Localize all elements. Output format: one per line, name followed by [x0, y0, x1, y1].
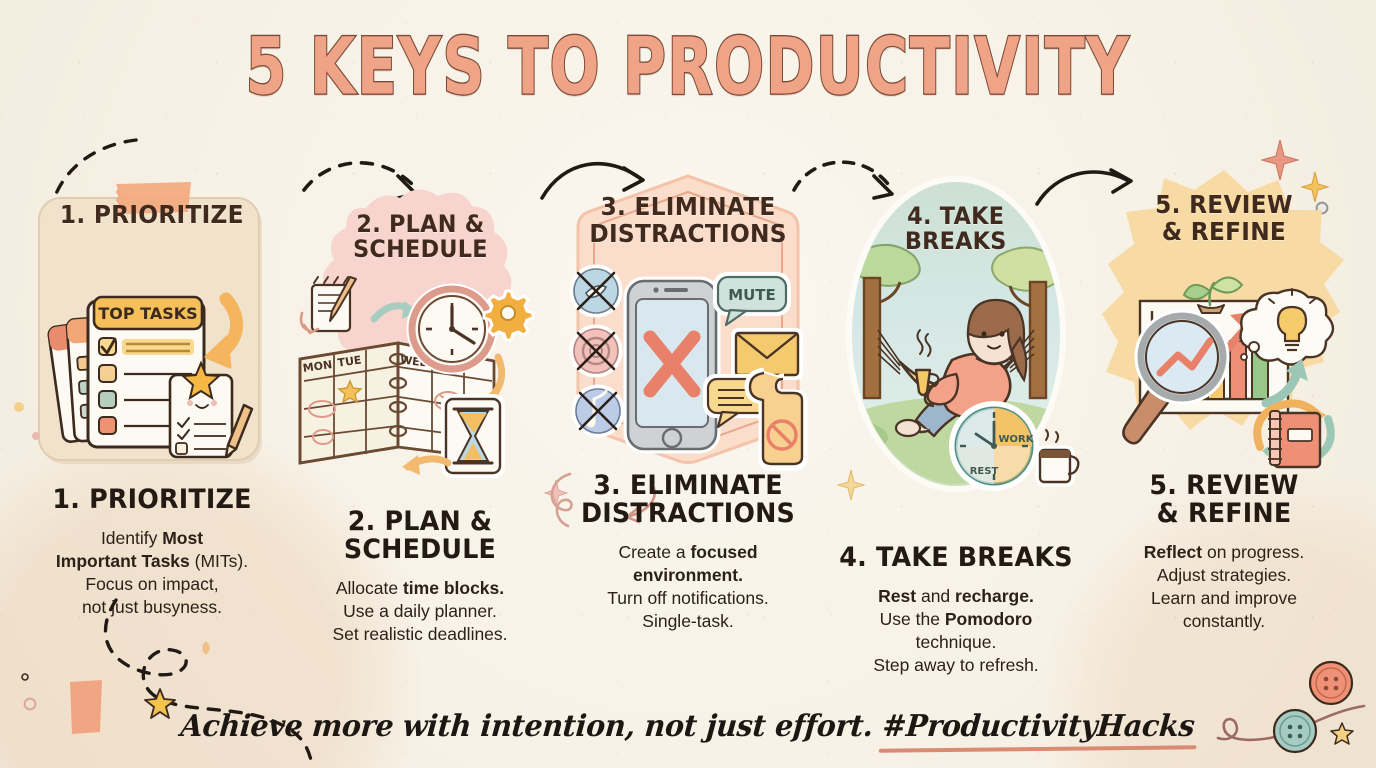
- caption-line: Adjust strategies.: [1093, 564, 1355, 587]
- step-5-caption: 5. REVIEW & REFINE Reflect on progress.A…: [1093, 472, 1355, 634]
- step-card-plan-schedule[interactable]: 2. PLAN & SCHEDULE: [286, 168, 554, 688]
- step-5-caption-heading: 5. REVIEW & REFINE: [1101, 472, 1347, 528]
- caption-line: Learn and improve: [1093, 587, 1355, 610]
- step-3-title: 3. ELIMINATE DISTRACTIONS: [589, 194, 786, 468]
- caption-line: environment.: [557, 564, 819, 587]
- caption-line: technique.: [825, 631, 1087, 654]
- step-4-caption: 4. TAKE BREAKS Rest and recharge.Use the…: [825, 544, 1087, 677]
- caption-line: Identify Most: [21, 527, 283, 550]
- step-5-title: 5. REVIEW & REFINE: [1155, 192, 1293, 466]
- step-2-caption-heading: 2. PLAN & SCHEDULE: [297, 508, 543, 564]
- caption-line: Allocate time blocks.: [289, 577, 551, 600]
- step-5-caption-body: Reflect on progress.Adjust strategies.Le…: [1093, 541, 1355, 633]
- step-card-eliminate-distractions[interactable]: 3. ELIMINATE DISTRACTIONS: [554, 168, 822, 688]
- step-4-caption-heading: 4. TAKE BREAKS: [833, 544, 1079, 572]
- caption-line: Focus on impact,: [21, 573, 283, 596]
- step-card-take-breaks[interactable]: 4. TAKE BREAKS: [822, 168, 1090, 688]
- footer-tagline: Achieve more with intention, not just ef…: [0, 709, 1376, 744]
- step-2-title: 2. PLAN & SCHEDULE: [353, 212, 488, 486]
- step-1-caption-body: Identify MostImportant Tasks (MITs).Focu…: [21, 527, 283, 619]
- step-3-caption: 3. ELIMINATE DISTRACTIONS Create a focus…: [557, 472, 819, 634]
- title-area: 5 KEYS TO PRODUCTIVITY: [0, 36, 1376, 100]
- caption-line: Set realistic deadlines.: [289, 623, 551, 646]
- step-2-caption: 2. PLAN & SCHEDULE Allocate time blocks.…: [289, 508, 551, 646]
- tagline-text: Achieve more with intention, not just ef…: [180, 709, 1197, 744]
- step-3-panel: 3. ELIMINATE DISTRACTIONS: [566, 168, 810, 468]
- step-2-caption-body: Allocate time blocks.Use a daily planner…: [289, 577, 551, 646]
- caption-line: Create a focused: [557, 541, 819, 564]
- step-4-panel: 4. TAKE BREAKS: [834, 172, 1078, 502]
- caption-line: Single-task.: [557, 610, 819, 633]
- step-1-caption: 1. PRIORITIZE Identify MostImportant Tas…: [21, 486, 283, 619]
- infographic-canvas: 5 KEYS TO PRODUCTIVITY: [0, 0, 1376, 768]
- caption-line: Use a daily planner.: [289, 600, 551, 623]
- caption-line: constantly.: [1093, 610, 1355, 633]
- notepad-icon: [312, 277, 356, 331]
- tagline-main: Achieve more with intention, not just ef…: [180, 709, 885, 744]
- caption-line: Important Tasks (MITs).: [21, 550, 283, 573]
- tagline-hashtag: #ProductivityHacks: [882, 709, 1197, 744]
- caption-line: Step away to refresh.: [825, 654, 1087, 677]
- caption-line: Reflect on progress.: [1093, 541, 1355, 564]
- step-4-caption-body: Rest and recharge.Use the Pomodorotechni…: [825, 585, 1087, 677]
- step-5-panel: 5. REVIEW & REFINE: [1102, 166, 1346, 466]
- mug-icon: [1038, 430, 1078, 484]
- gear-icon: [484, 291, 533, 340]
- step-card-prioritize[interactable]: 1. PRIORITIZE: [18, 168, 286, 688]
- step-1-panel: 1. PRIORITIZE: [30, 176, 274, 476]
- caption-line: not just busyness.: [21, 596, 283, 619]
- step-1-caption-heading: 1. PRIORITIZE: [29, 486, 275, 514]
- step-card-review-refine[interactable]: 5. REVIEW & REFINE: [1090, 168, 1358, 688]
- step-3-caption-heading: 3. ELIMINATE DISTRACTIONS: [565, 472, 811, 528]
- step-3-caption-body: Create a focusedenvironment.Turn off not…: [557, 541, 819, 633]
- step-1-title: 1. PRIORITIZE: [60, 202, 244, 476]
- caption-line: Turn off notifications.: [557, 587, 819, 610]
- caption-line: Use the Pomodoro: [825, 608, 1087, 631]
- caption-line: Rest and recharge.: [825, 585, 1087, 608]
- page-title: 5 KEYS TO PRODUCTIVITY: [246, 29, 1131, 107]
- step-4-title: 4. TAKE BREAKS: [905, 204, 1007, 502]
- step-2-panel: 2. PLAN & SCHEDULE: [298, 186, 542, 486]
- steps-row: 1. PRIORITIZE: [18, 168, 1358, 688]
